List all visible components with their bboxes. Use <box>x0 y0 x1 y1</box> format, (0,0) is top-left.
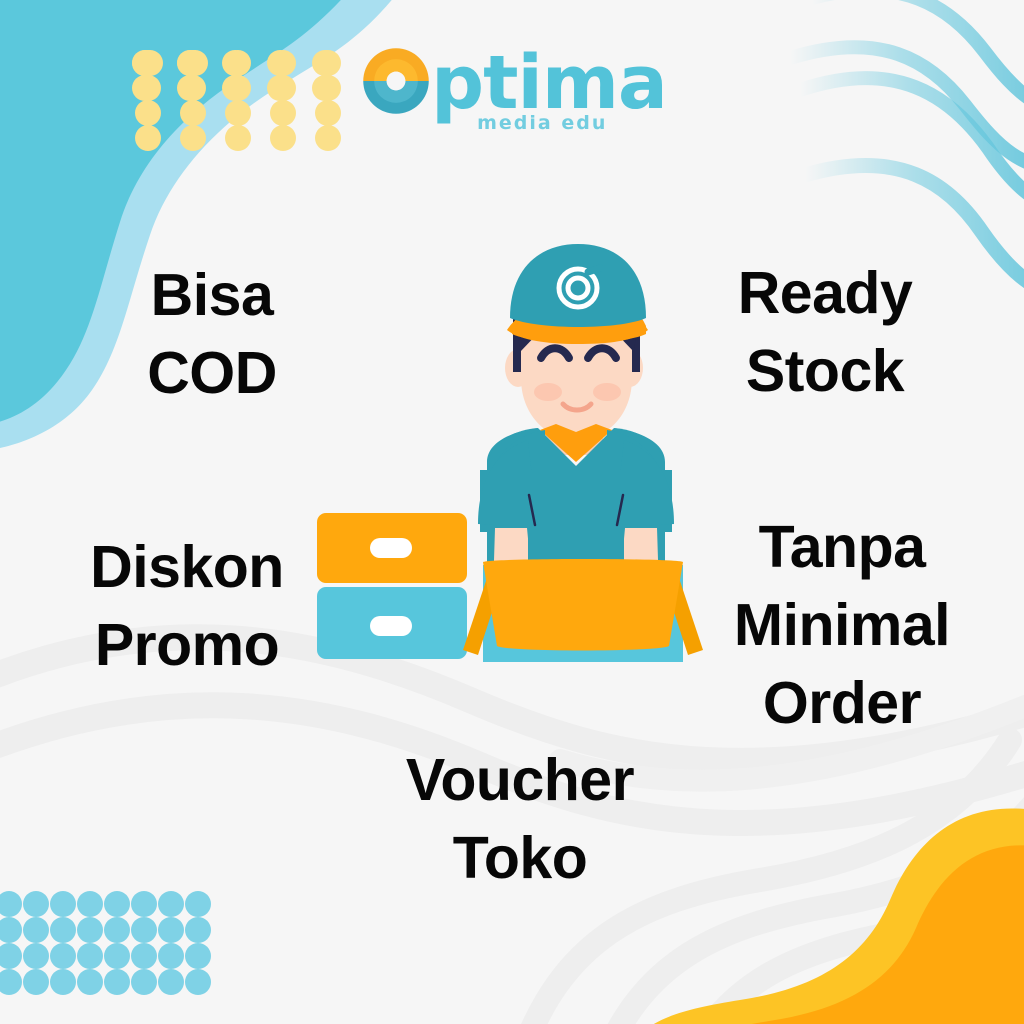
feature-line: Stock <box>700 333 950 411</box>
feature-caption-ready-stock: Ready Stock <box>700 255 950 411</box>
feature-line: Minimal <box>712 587 972 665</box>
feature-line: Tanpa <box>712 509 972 587</box>
optima-circle-logo-icon <box>357 42 435 120</box>
brand-wordmark: ptima <box>431 48 667 118</box>
feature-line: Ready <box>700 255 950 333</box>
feature-caption-voucher-toko: Voucher Toko <box>370 742 670 898</box>
feature-line: Order <box>712 665 972 743</box>
feature-caption-tanpa-minimal-order: Tanpa Minimal Order <box>712 509 972 743</box>
open-box-interior <box>483 559 683 651</box>
feature-line: Bisa <box>92 257 332 335</box>
feature-line: COD <box>92 335 332 413</box>
brand-tagline: media edu <box>477 112 607 134</box>
feature-line: Toko <box>370 820 670 898</box>
promo-poster: ptima media edu <box>0 0 1024 1024</box>
feature-line: Promo <box>62 607 312 685</box>
feature-caption-diskon-promo: Diskon Promo <box>62 529 312 685</box>
brand-logo: ptima media edu <box>0 42 1024 120</box>
feature-line: Voucher <box>370 742 670 820</box>
feature-caption-cod: Bisa COD <box>92 257 332 413</box>
feature-line: Diskon <box>62 529 312 607</box>
